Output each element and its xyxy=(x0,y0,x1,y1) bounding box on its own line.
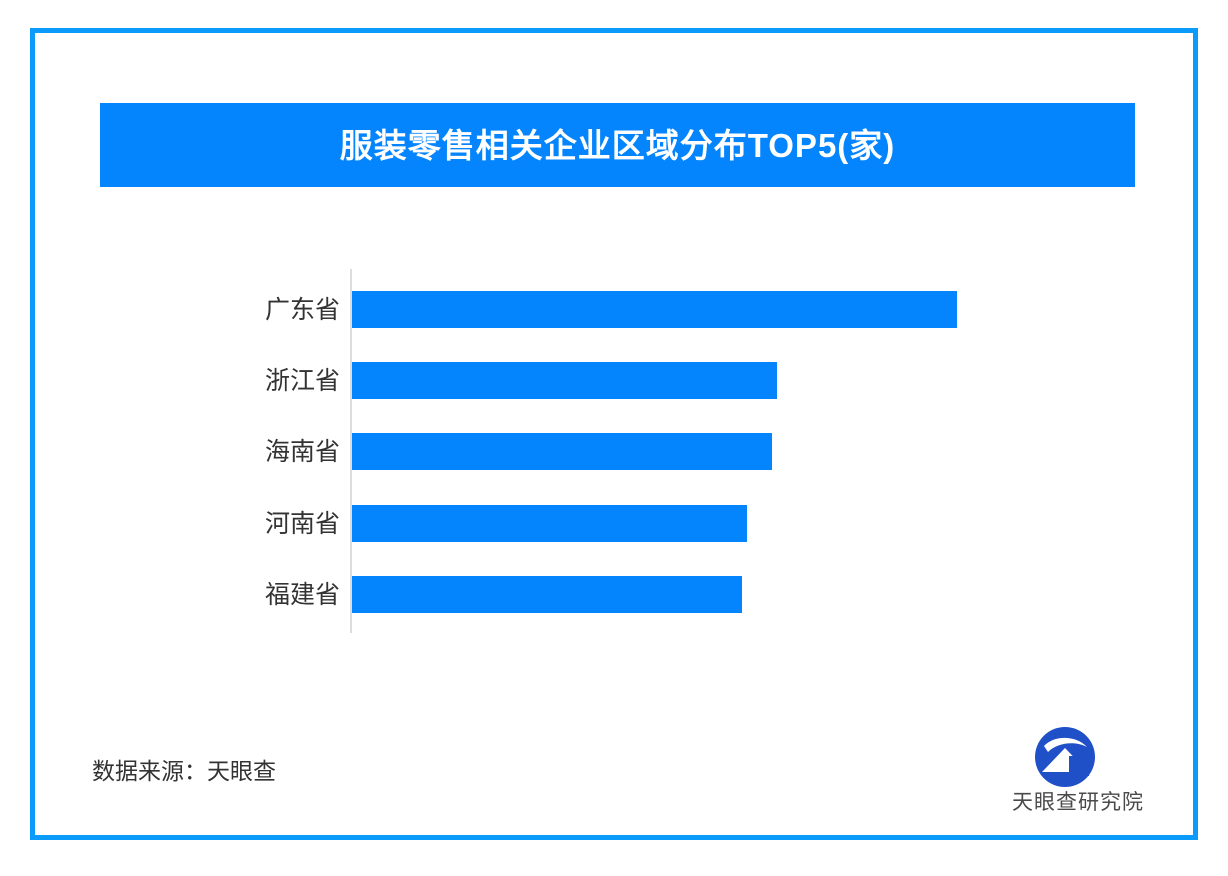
data-source-note: 数据来源：天眼查 xyxy=(92,760,276,783)
title-banner: 服装零售相关企业区域分布TOP5(家) xyxy=(100,103,1135,187)
tianyancha-eye-mountain-logo-icon xyxy=(1034,726,1096,788)
page-title: 服装零售相关企业区域分布TOP5(家) xyxy=(340,129,896,162)
infographic-canvas: 服装零售相关企业区域分布TOP5(家) 广东省 浙江省 海南省 河南省 福建省 … xyxy=(0,0,1228,876)
brand-logo-text: 天眼查研究院 xyxy=(1012,792,1140,813)
brand-logo: 天眼查研究院 xyxy=(1012,726,1140,820)
